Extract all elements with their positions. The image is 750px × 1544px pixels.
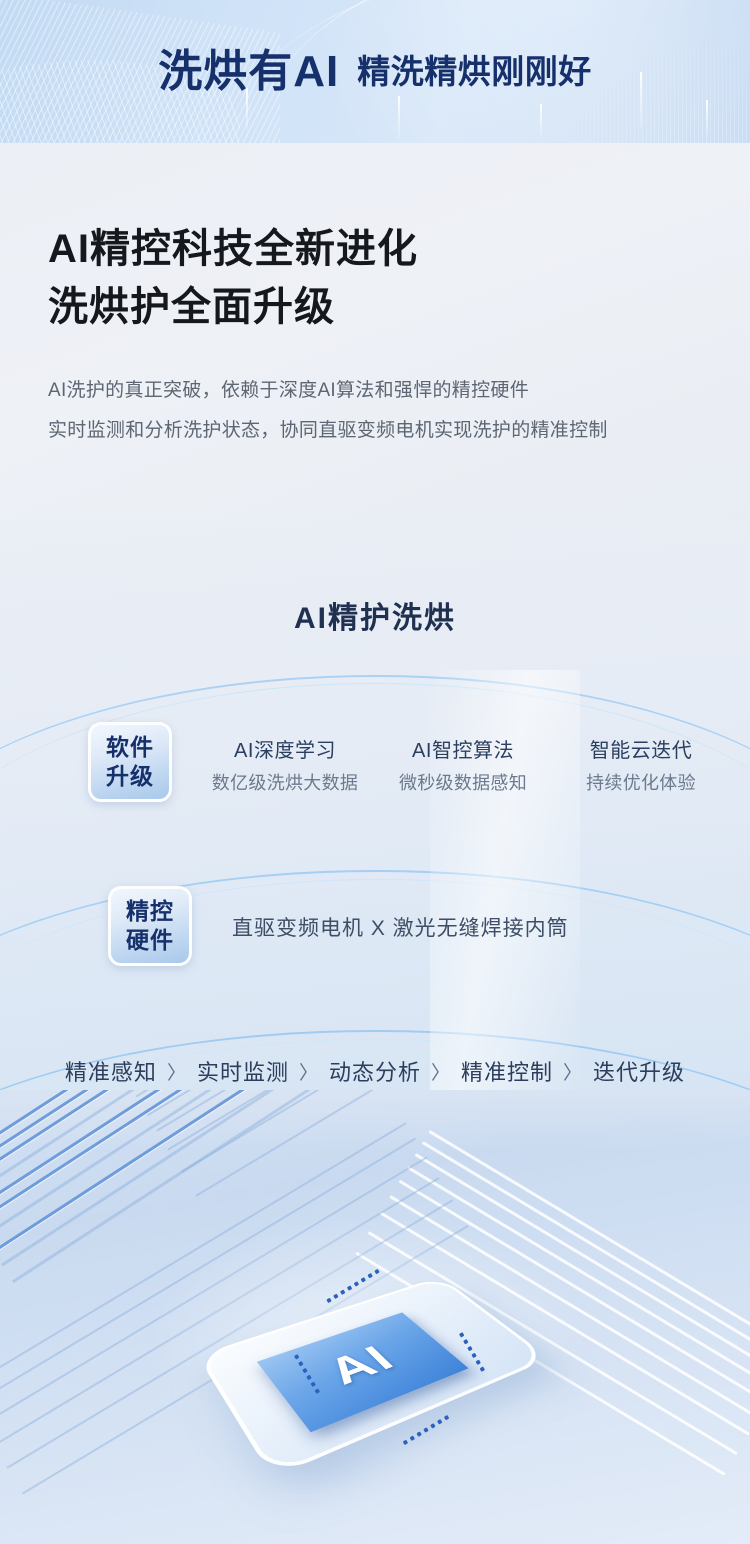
header-main-title: 洗烘有AI (158, 50, 339, 94)
section-title: AI精护洗烘 (0, 593, 750, 637)
feature-item: 智能云迭代 持续优化体验 (552, 736, 730, 798)
badge-software-line2: 升级 (106, 762, 154, 791)
feature-title: 智能云迭代 (552, 736, 730, 766)
chevron-right-icon: 〉 (167, 1058, 187, 1085)
chain-step: 动态分析 (329, 1055, 421, 1087)
page-title: AI精控科技全新进化 洗烘护全面升级 (48, 220, 418, 336)
page-title-line2: 洗烘护全面升级 (48, 278, 418, 336)
badge-software-line1: 软件 (106, 733, 154, 762)
hardware-description: 直驱变频电机 X 激光无缝焊接内筒 (232, 912, 569, 942)
badge-precision-hardware: 精控 硬件 (108, 886, 192, 966)
intro-description-line2: 实时监测和分析洗护状态，协同直驱变频电机实现洗护的精准控制 (48, 411, 608, 451)
chevron-right-icon: 〉 (563, 1058, 583, 1085)
feature-subtitle: 数亿级洗烘大数据 (196, 769, 374, 798)
badge-hardware-line2: 硬件 (126, 926, 174, 955)
chip-label: AI (317, 1338, 406, 1394)
badge-hardware-line1: 精控 (126, 897, 174, 926)
decorative-light-beam (430, 670, 580, 1100)
feature-title: AI智控算法 (374, 736, 552, 766)
ai-feature-section: AI精护洗烘 (0, 520, 750, 1110)
chain-step: 精准感知 (65, 1055, 157, 1087)
page-title-line1: AI精控科技全新进化 (48, 227, 418, 271)
feature-subtitle: 微秒级数据感知 (374, 769, 552, 798)
ai-chip: AI (195, 1232, 557, 1482)
chain-step: 迭代升级 (593, 1055, 685, 1087)
intro-description-line1: AI洗护的真正突破，依赖于深度AI算法和强悍的精控硬件 (48, 371, 608, 411)
chain-step: 实时监测 (197, 1055, 289, 1087)
process-chain: 精准感知 〉 实时监测 〉 动态分析 〉 精准控制 〉 迭代升级 (0, 1055, 750, 1087)
feature-subtitle: 持续优化体验 (552, 769, 730, 798)
feature-title: AI深度学习 (196, 736, 374, 766)
software-feature-row: AI深度学习 数亿级洗烘大数据 AI智控算法 微秒级数据感知 智能云迭代 持续优… (196, 736, 750, 798)
intro-description: AI洗护的真正突破，依赖于深度AI算法和强悍的精控硬件 实时监测和分析洗护状态，… (48, 371, 608, 451)
chip-pin-row (403, 1415, 450, 1445)
header-banner: 洗烘有AI 精洗精烘刚刚好 (0, 0, 750, 143)
feature-item: AI智控算法 微秒级数据感知 (374, 736, 552, 798)
chevron-right-icon: 〉 (431, 1058, 451, 1085)
chevron-right-icon: 〉 (299, 1058, 319, 1085)
chain-step: 精准控制 (461, 1055, 553, 1087)
feature-item: AI深度学习 数亿级洗烘大数据 (196, 736, 374, 798)
header-sub-title: 精洗精烘刚刚好 (357, 55, 592, 88)
badge-software-upgrade: 软件 升级 (88, 722, 172, 802)
header-title-group: 洗烘有AI 精洗精烘刚刚好 (0, 0, 750, 143)
